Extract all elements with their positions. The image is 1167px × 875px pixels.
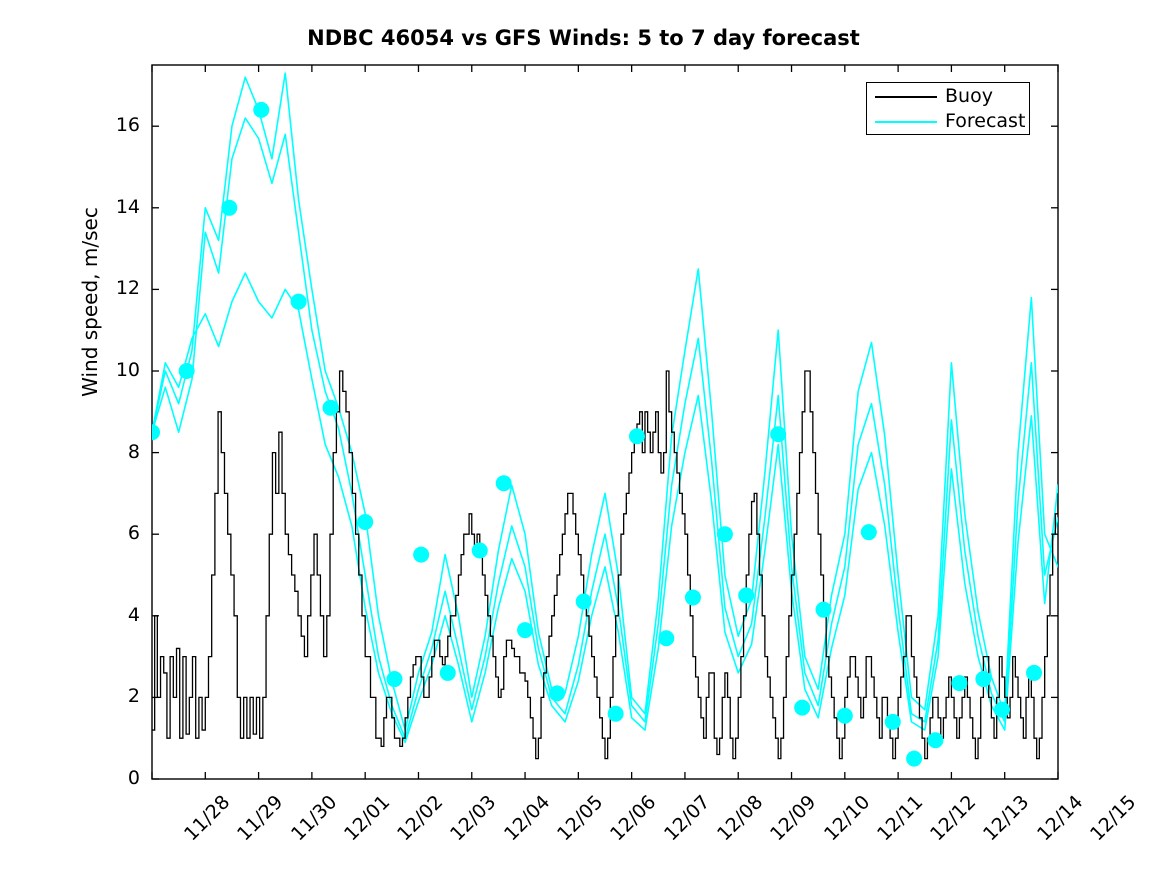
chart-legend[interactable]: Buoy Forecast [866, 82, 1030, 135]
y-tick-label: 0 [100, 767, 140, 789]
legend-item-forecast[interactable]: Forecast [867, 109, 1029, 135]
legend-item-buoy[interactable]: Buoy [867, 84, 1029, 110]
legend-swatch-forecast [875, 121, 937, 123]
legend-swatch-buoy [875, 96, 937, 98]
legend-label-forecast: Forecast [945, 110, 1025, 132]
y-tick-label: 14 [100, 196, 140, 218]
figure-canvas: NDBC 46054 vs GFS Winds: 5 to 7 day fore… [0, 0, 1167, 875]
y-tick-label: 10 [100, 359, 140, 381]
y-tick-label: 6 [100, 522, 140, 544]
y-tick-label: 16 [100, 114, 140, 136]
y-tick-label: 8 [100, 441, 140, 463]
legend-label-buoy: Buoy [945, 85, 993, 107]
y-tick-label: 4 [100, 604, 140, 626]
y-tick-label: 2 [100, 685, 140, 707]
y-tick-label: 12 [100, 277, 140, 299]
